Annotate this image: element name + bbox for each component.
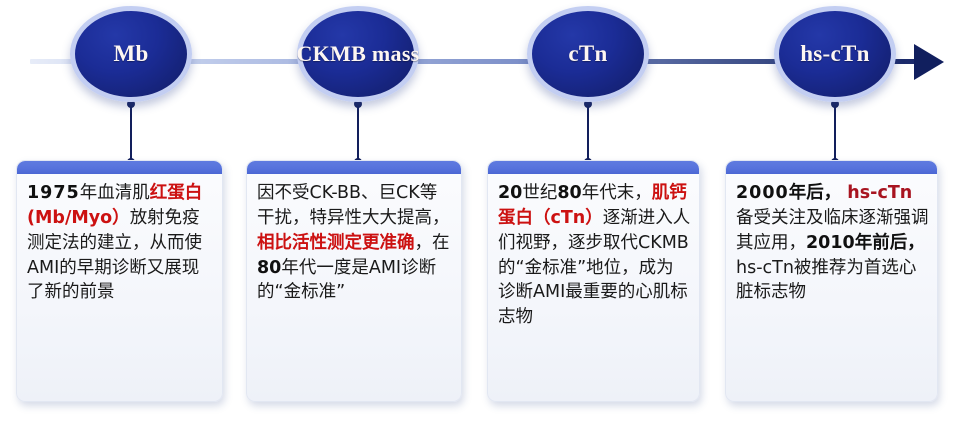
timeline-node-1-label: Mb [113, 41, 148, 67]
card-4-text: 2000年后， hs-cTn备受关注及临床逐渐强调其应用，2010年前后，hs-… [726, 174, 937, 309]
text-run: 80 [557, 183, 581, 203]
timeline-node-3-label: cTn [568, 41, 607, 67]
text-run: 世纪 [522, 183, 557, 203]
text-run: hs-cTn被推荐为首选心脏标志物 [736, 258, 916, 303]
description-card-2[interactable]: 因不受CK-BB、巨CK等干扰，特异性大大提高，相比活性测定更准确，在80年代一… [246, 160, 462, 402]
card-4-header-bar [726, 161, 937, 174]
card-2-header-bar [247, 161, 461, 174]
connector-line-2 [357, 104, 359, 162]
description-card-1[interactable]: 1975年血清肌红蛋白(Mb/Myo）放射免疫测定法的建立，从而使AMI的早期诊… [16, 160, 223, 402]
text-run: 相比活性测定更准确 [257, 233, 415, 253]
card-1-text: 1975年血清肌红蛋白(Mb/Myo）放射免疫测定法的建立，从而使AMI的早期诊… [17, 174, 222, 309]
text-run: ，在 [415, 233, 450, 253]
text-run: 年血清肌 [80, 183, 150, 203]
timeline-node-4-label: hs-cTn [800, 41, 870, 67]
text-run: 2000 [736, 183, 789, 203]
text-run: 20 [498, 183, 522, 203]
timeline-node-1[interactable]: Mb [70, 6, 192, 102]
description-card-3[interactable]: 20世纪80年代末，肌钙蛋白（cTn）逐渐进入人们视野，逐步取代CKMB的“金标… [487, 160, 700, 402]
card-1-header-bar [17, 161, 222, 174]
text-run: 年后， [789, 183, 842, 203]
card-2-text: 因不受CK-BB、巨CK等干扰，特异性大大提高，相比活性测定更准确，在80年代一… [247, 174, 461, 309]
description-card-4[interactable]: 2000年后， hs-cTn备受关注及临床逐渐强调其应用，2010年前后，hs-… [725, 160, 938, 402]
text-run: hs-cTn [841, 183, 912, 203]
connector-line-1 [130, 104, 132, 162]
text-run: 年代一度是AMI诊断的“金标准” [257, 258, 436, 303]
text-run: 因不受CK-BB、巨CK等干扰，特异性大大提高， [257, 183, 450, 228]
timeline-node-3[interactable]: cTn [527, 6, 649, 102]
timeline-node-2-label: CKMB mass [296, 41, 419, 67]
diagram-canvas: Mb CKMB mass cTn hs-cTn 1975年血清肌红蛋白(Mb/M… [0, 0, 958, 421]
text-run: 年前后， [855, 233, 925, 253]
text-run: 2010 [806, 233, 855, 253]
timeline-node-2[interactable]: CKMB mass [297, 6, 419, 102]
connector-line-4 [834, 104, 836, 162]
card-3-text: 20世纪80年代末，肌钙蛋白（cTn）逐渐进入人们视野，逐步取代CKMB的“金标… [488, 174, 699, 334]
timeline-arrow-icon [914, 44, 944, 80]
text-run: 1975 [27, 183, 80, 203]
text-run: 80 [257, 258, 281, 278]
card-3-header-bar [488, 161, 699, 174]
connector-line-3 [587, 104, 589, 162]
text-run: 年代末， [582, 183, 652, 203]
timeline-node-4[interactable]: hs-cTn [774, 6, 896, 102]
